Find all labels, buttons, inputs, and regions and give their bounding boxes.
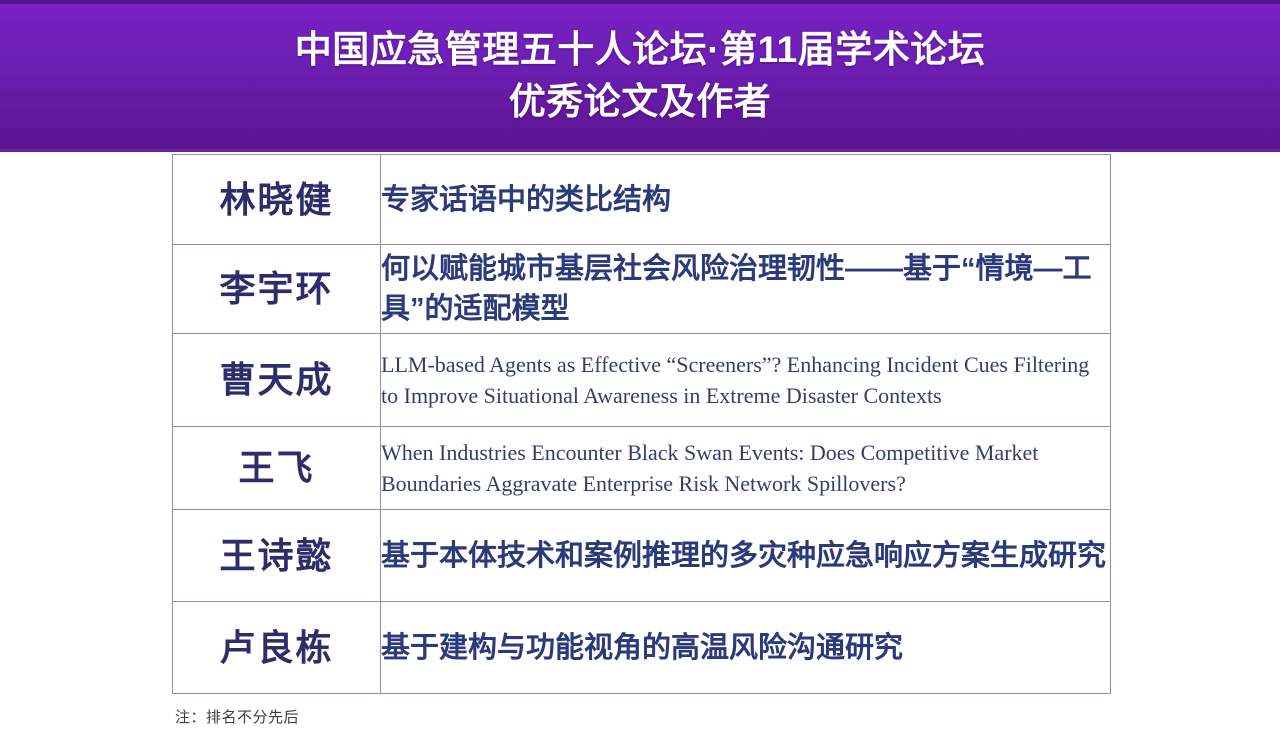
table-row: 曹天成 LLM-based Agents as Effective “Scree… bbox=[173, 334, 1111, 427]
slide-root: 中国应急管理五十人论坛·第11届学术论坛 优秀论文及作者 林晓健 专家话语中的类… bbox=[0, 0, 1280, 737]
table-row: 林晓健 专家话语中的类比结构 bbox=[173, 155, 1111, 245]
author-name-cell: 王诗懿 bbox=[173, 510, 381, 602]
author-name-cell: 林晓健 bbox=[173, 155, 381, 245]
page-title: 中国应急管理五十人论坛·第11届学术论坛 优秀论文及作者 bbox=[0, 24, 1280, 128]
papers-table: 林晓健 专家话语中的类比结构 李宇环 何以赋能城市基层社会风险治理韧性——基于“… bbox=[172, 154, 1111, 694]
author-name-cell: 卢良栋 bbox=[173, 602, 381, 694]
paper-title-cell: LLM-based Agents as Effective “Screeners… bbox=[381, 334, 1111, 427]
paper-title-cell: 何以赋能城市基层社会风险治理韧性——基于“情境—工具”的适配模型 bbox=[381, 245, 1111, 334]
page-title-line-1: 中国应急管理五十人论坛·第11届学术论坛 bbox=[0, 24, 1280, 76]
table-row: 王诗懿 基于本体技术和案例推理的多灾种应急响应方案生成研究 bbox=[173, 510, 1111, 602]
paper-title-cell: 基于本体技术和案例推理的多灾种应急响应方案生成研究 bbox=[381, 510, 1111, 602]
table-row: 王飞 When Industries Encounter Black Swan … bbox=[173, 427, 1111, 510]
paper-title-cell: 基于建构与功能视角的高温风险沟通研究 bbox=[381, 602, 1111, 694]
paper-title-cell: When Industries Encounter Black Swan Eve… bbox=[381, 427, 1111, 510]
footnote: 注：排名不分先后 bbox=[175, 708, 299, 728]
table-row: 李宇环 何以赋能城市基层社会风险治理韧性——基于“情境—工具”的适配模型 bbox=[173, 245, 1111, 334]
author-name-cell: 曹天成 bbox=[173, 334, 381, 427]
author-name-cell: 王飞 bbox=[173, 427, 381, 510]
table-row: 卢良栋 基于建构与功能视角的高温风险沟通研究 bbox=[173, 602, 1111, 694]
paper-title-cell: 专家话语中的类比结构 bbox=[381, 155, 1111, 245]
header-banner: 中国应急管理五十人论坛·第11届学术论坛 优秀论文及作者 bbox=[0, 0, 1280, 152]
author-name-cell: 李宇环 bbox=[173, 245, 381, 334]
page-title-line-2: 优秀论文及作者 bbox=[0, 76, 1280, 128]
